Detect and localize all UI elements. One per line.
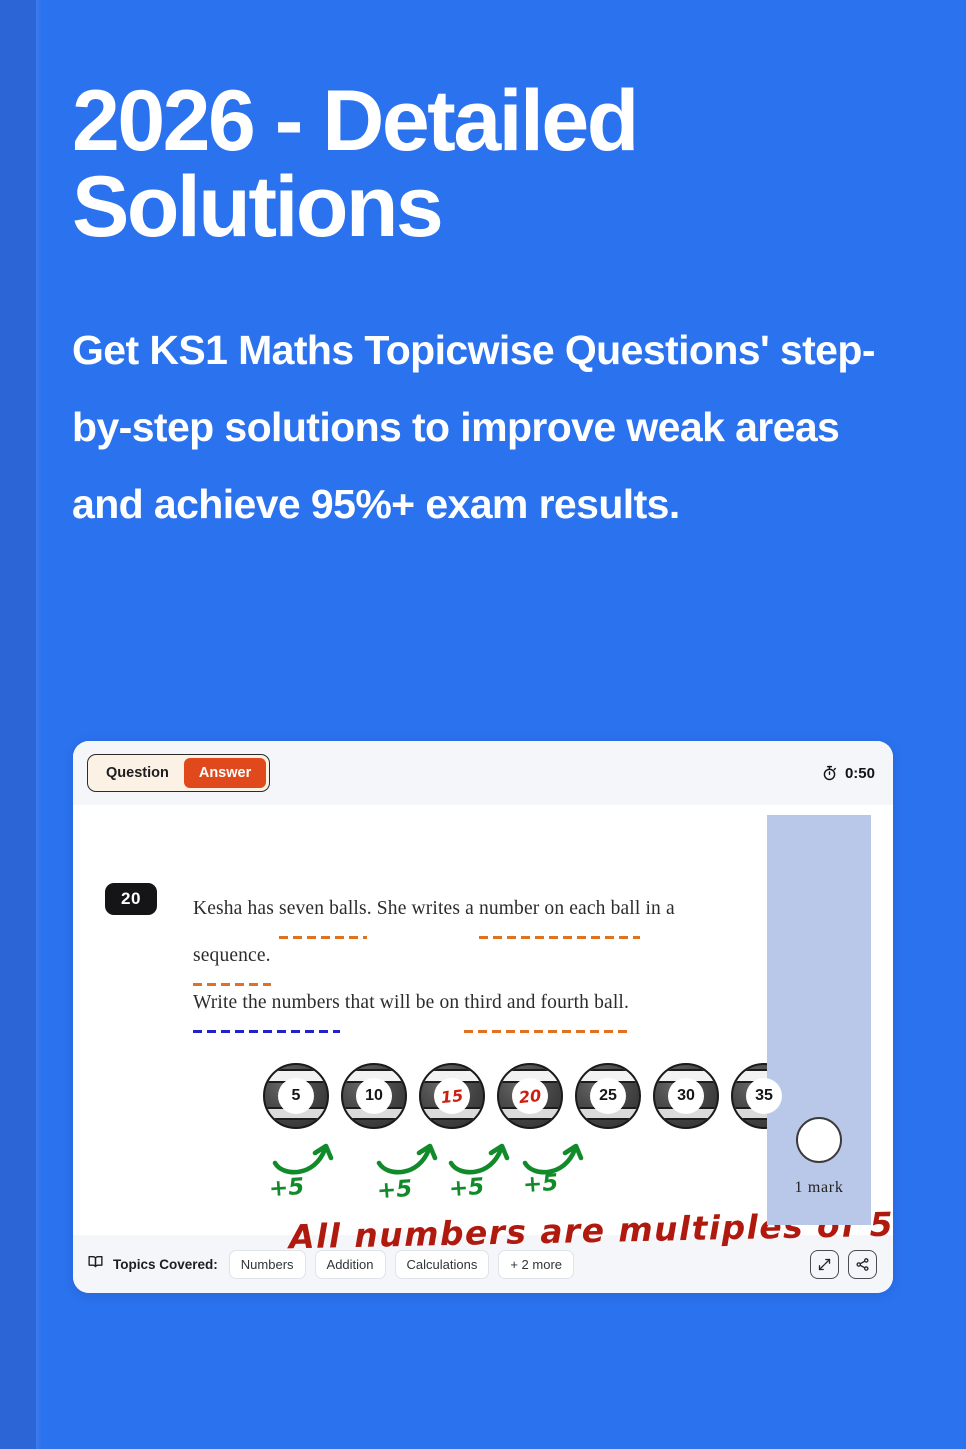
book-icon (87, 1253, 104, 1275)
ball-value: 5 (278, 1078, 314, 1114)
q-underline-sequence: sequence. (193, 932, 271, 979)
stopwatch-icon (821, 764, 838, 782)
q-underline-third-fourth: third and fourth ball. (464, 979, 629, 1026)
step-label: +5 (376, 1176, 413, 1204)
ball-item: 20 (497, 1063, 563, 1129)
question-line-3: Write the numbers that will be on third … (193, 979, 793, 1026)
ball-item: 10 (341, 1063, 407, 1129)
ball-value: 25 (590, 1078, 626, 1114)
question-paper: 20 Kesha has seven balls. She writes a n… (73, 805, 767, 1235)
ball-value-handwritten: 20 (510, 1076, 550, 1116)
q-underline-seven-balls: seven balls (279, 885, 367, 932)
page-subtitle: Get KS1 Maths Topicwise Questions' step-… (72, 312, 902, 543)
step-annotation-layer: +5 +5 +5 +5 (269, 1137, 669, 1207)
q-underline-write-numbers: Write the numbers (193, 979, 340, 1026)
ball-sequence: 5 10 15 20 25 30 35 (263, 1063, 797, 1129)
footer-actions (810, 1250, 877, 1279)
step-label: +5 (448, 1174, 485, 1202)
ball-item: 25 (575, 1063, 641, 1129)
topics-label: Topics Covered: (113, 1257, 218, 1272)
share-button[interactable] (848, 1250, 877, 1279)
q-text-seg: that will be on (340, 992, 464, 1013)
topic-tag[interactable]: Calculations (395, 1250, 490, 1279)
tab-question[interactable]: Question (91, 758, 184, 788)
ball-value: 35 (746, 1078, 782, 1114)
ball-value: 10 (356, 1078, 392, 1114)
ball-item: 15 (419, 1063, 485, 1129)
ball-item: 30 (653, 1063, 719, 1129)
question-number-badge: 20 (105, 883, 157, 915)
share-icon (855, 1257, 870, 1272)
question-card: Question Answer 0:50 20 Kesha has seven … (73, 741, 893, 1293)
step-label: +5 (522, 1170, 559, 1198)
q-text-seg: in a (640, 898, 674, 919)
question-line-1: Kesha has seven balls. She writes a numb… (193, 885, 793, 932)
page-title: 2026 - Detailed Solutions (72, 78, 902, 250)
card-body: 20 Kesha has seven balls. She writes a n… (73, 805, 893, 1235)
mark-circle (796, 1117, 842, 1163)
topic-tag-more[interactable]: + 2 more (498, 1250, 574, 1279)
card-header: Question Answer 0:50 (73, 741, 893, 805)
q-text-seg: . She writes a (367, 898, 479, 919)
hero-section: 2026 - Detailed Solutions Get KS1 Maths … (72, 78, 902, 543)
question-line-2: sequence. (193, 932, 793, 979)
timer: 0:50 (821, 764, 875, 782)
left-gutter-strip (0, 0, 36, 1449)
mark-panel: 1 mark (767, 815, 871, 1225)
ball-item: 5 (263, 1063, 329, 1129)
expand-icon (817, 1257, 832, 1272)
mark-label: 1 mark (767, 1179, 871, 1197)
expand-button[interactable] (810, 1250, 839, 1279)
step-label: +5 (268, 1174, 305, 1202)
tab-answer[interactable]: Answer (184, 758, 266, 788)
left-gutter-edge (36, 0, 42, 1449)
ball-value-handwritten: 15 (432, 1076, 472, 1116)
q-underline-number-each-ball: number on each ball (479, 885, 641, 932)
question-answer-toggle[interactable]: Question Answer (87, 754, 270, 792)
question-text: Kesha has seven balls. She writes a numb… (193, 885, 793, 1026)
ball-value: 30 (668, 1078, 704, 1114)
q-text-seg: Kesha has (193, 898, 279, 919)
timer-value: 0:50 (845, 765, 875, 782)
